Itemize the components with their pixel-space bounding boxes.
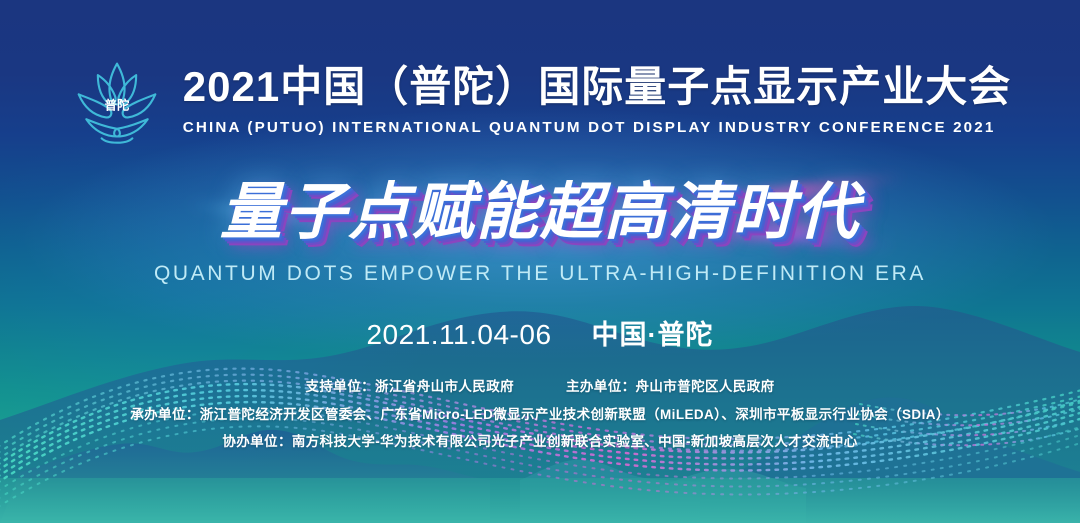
- event-datebar: 2021.11.04-06中国·普陀: [0, 313, 1080, 352]
- organizer-line-support-host: 支持单位：浙江省舟山市人民政府主办单位：舟山市普陀区人民政府: [0, 380, 1080, 394]
- host-unit-label: 主办单位：舟山市普陀区人民政府: [566, 379, 775, 394]
- support-unit-label: 支持单位：浙江省舟山市人民政府: [306, 379, 515, 394]
- lotus-flower-icon: 普陀 PUTUO: [69, 56, 165, 148]
- title-block: 2021中国（普陀）国际量子点显示产业大会 CHINA (PUTUO) INTE…: [183, 64, 1011, 135]
- event-date: 2021.11.04-06: [366, 319, 551, 350]
- putuo-logo: 普陀 PUTUO: [69, 56, 165, 148]
- slogan-english: QUANTUM DOTS EMPOWER THE ULTRA-HIGH-DEFI…: [0, 262, 1080, 286]
- event-place: 中国·普陀: [592, 320, 714, 350]
- water-reflection: [0, 478, 1080, 523]
- poster-header: 普陀 PUTUO 2021中国（普陀）国际量子点显示产业大会 CHINA (PU…: [0, 52, 1080, 148]
- organizer-unit-label: 承办单位：浙江普陀经济开发区管委会、广东省Micro-LED微显示产业技术创新联…: [0, 408, 1080, 422]
- slogan-chinese: 量子点赋能超高清时代: [214, 180, 866, 246]
- organizers-section: 支持单位：浙江省舟山市人民政府主办单位：舟山市普陀区人民政府 承办单位：浙江普陀…: [0, 380, 1080, 449]
- sub-title-english: CHINA (PUTUO) INTERNATIONAL QUANTUM DOT …: [183, 119, 1011, 136]
- main-title: 2021中国（普陀）国际量子点显示产业大会: [183, 64, 1011, 109]
- coorganizer-unit-label: 协办单位：南方科技大学-华为技术有限公司光子产业创新联合实验室、中国-新加坡高层…: [0, 435, 1080, 449]
- slogan-section: 量子点赋能超高清时代 QUANTUM DOTS EMPOWER THE ULTR…: [0, 180, 1080, 286]
- conference-poster: 普陀 PUTUO 2021中国（普陀）国际量子点显示产业大会 CHINA (PU…: [0, 0, 1080, 523]
